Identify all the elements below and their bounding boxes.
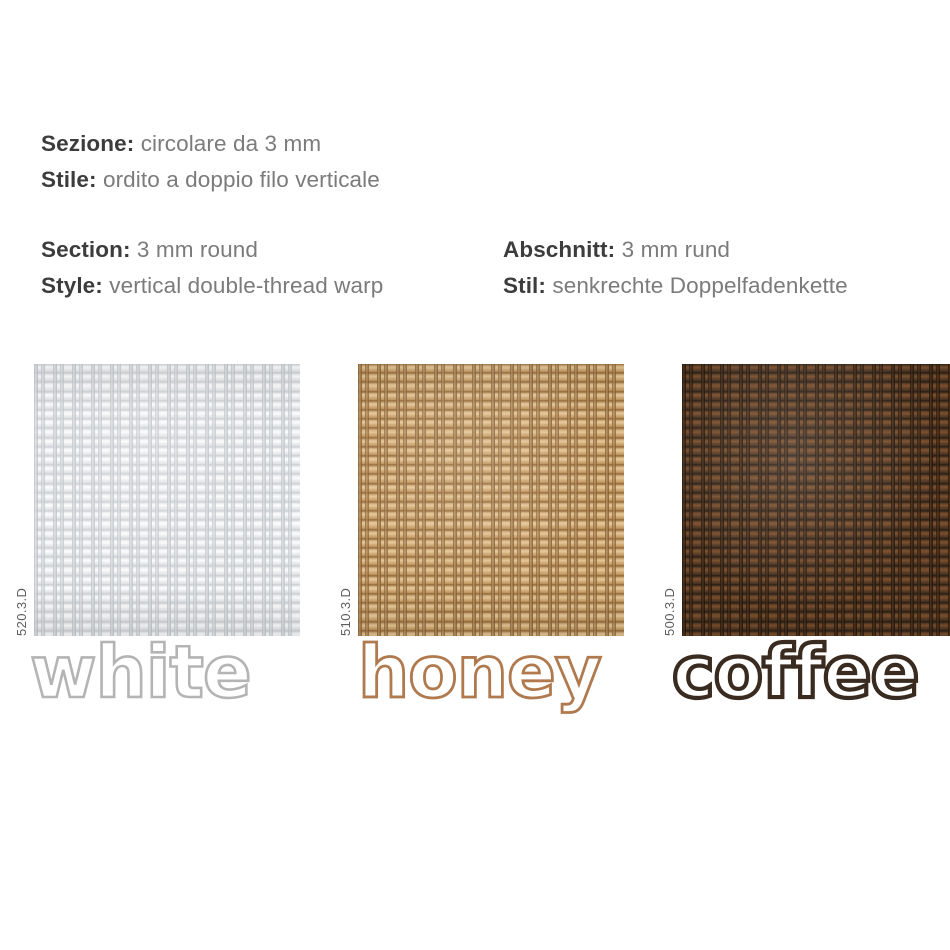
spec-line-section: Section: 3 mm round xyxy=(41,234,383,265)
spec-value-sezione: circolare da 3 mm xyxy=(141,131,322,156)
spec-line-sezione: Sezione: circolare da 3 mm xyxy=(41,128,380,159)
product-code-white: 520.3.D xyxy=(14,556,34,636)
spec-label-style: Style: xyxy=(41,273,103,298)
spec-label-stile: Stile: xyxy=(41,167,97,192)
spec-line-style: Style: vertical double-thread warp xyxy=(41,270,383,301)
spec-label-stil: Stil: xyxy=(503,273,546,298)
color-name-white: white xyxy=(30,636,251,708)
weave-sample-white[interactable] xyxy=(34,364,300,636)
color-name-coffee: coffee xyxy=(672,636,918,708)
weave-sample-honey[interactable] xyxy=(358,364,624,636)
weave-texture-honey xyxy=(358,364,624,636)
spec-block-italian: Sezione: circolare da 3 mm Stile: ordito… xyxy=(41,128,380,195)
spec-value-stile: ordito a doppio filo verticale xyxy=(103,167,380,192)
product-code-coffee: 500.3.D xyxy=(662,556,682,636)
spec-line-stil: Stil: senkrechte Doppelfadenkette xyxy=(503,270,848,301)
product-sheet: Sezione: circolare da 3 mm Stile: ordito… xyxy=(0,0,950,950)
spec-line-abschnitt: Abschnitt: 3 mm rund xyxy=(503,234,848,265)
spec-value-style: vertical double-thread warp xyxy=(109,273,383,298)
spec-label-abschnitt: Abschnitt: xyxy=(503,237,615,262)
weave-texture-coffee xyxy=(682,364,950,636)
spec-label-section: Section: xyxy=(41,237,131,262)
spec-value-abschnitt: 3 mm rund xyxy=(622,237,730,262)
spec-value-stil: senkrechte Doppelfadenkette xyxy=(552,273,847,298)
spec-block-english: Section: 3 mm round Style: vertical doub… xyxy=(41,234,383,301)
color-name-honey: honey xyxy=(358,636,601,708)
product-code-honey: 510.3.D xyxy=(338,556,358,636)
weave-texture-white xyxy=(34,364,300,636)
spec-label-sezione: Sezione: xyxy=(41,131,134,156)
spec-line-stile: Stile: ordito a doppio filo verticale xyxy=(41,164,380,195)
weave-sample-coffee[interactable] xyxy=(682,364,950,636)
spec-block-german: Abschnitt: 3 mm rund Stil: senkrechte Do… xyxy=(503,234,848,301)
spec-value-section: 3 mm round xyxy=(137,237,258,262)
